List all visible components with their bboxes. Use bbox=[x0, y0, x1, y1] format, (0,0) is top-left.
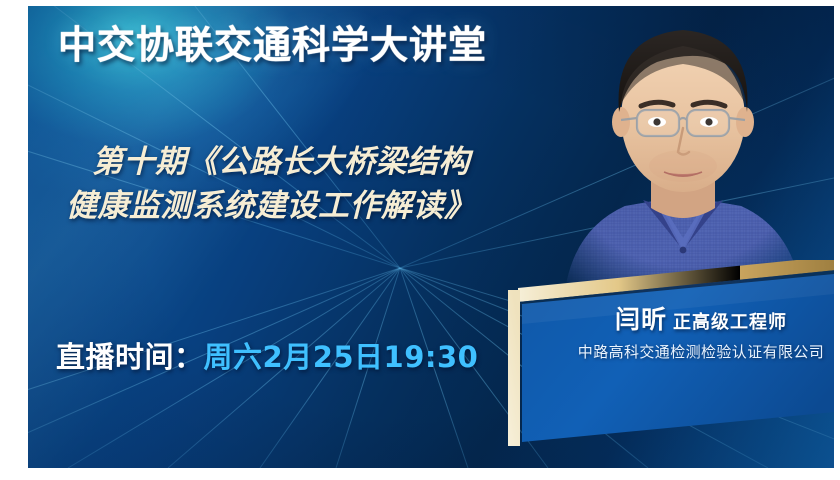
background-sheen bbox=[28, 6, 834, 468]
speaker-text-block: 闫昕正高级工程师 中路高科交通检测检验认证有限公司 bbox=[536, 306, 834, 362]
speaker-role: 正高级工程师 bbox=[673, 312, 787, 333]
broadcast-time-value: 周六2月25日19:30 bbox=[204, 334, 479, 376]
speaker-photo bbox=[533, 6, 833, 310]
poster-subtitle: 第十期《公路长大桥梁结构 健康监测系统建设工作解读》 bbox=[54, 140, 574, 228]
subtitle-line-2: 健康监测系统建设工作解读》 bbox=[54, 184, 574, 228]
page-title: 中交协联交通科学大讲堂 bbox=[58, 26, 487, 66]
poster-root: 中交协联交通科学大讲堂 第十期《公路长大桥梁结构 健康监测系统建设工作解读》 直… bbox=[0, 0, 840, 480]
subtitle-line-1: 第十期《公路长大桥梁结构 bbox=[54, 140, 574, 184]
speaker-name: 闫昕 bbox=[615, 305, 667, 334]
broadcast-time: 直播时间： 周六2月25日19:30 bbox=[56, 334, 478, 376]
speaker-panel-shape bbox=[476, 260, 834, 450]
background-vignette bbox=[28, 6, 834, 468]
poster-canvas: 中交协联交通科学大讲堂 第十期《公路长大桥梁结构 健康监测系统建设工作解读》 直… bbox=[28, 6, 834, 468]
speaker-name-row: 闫昕正高级工程师 bbox=[536, 306, 834, 334]
perspective-grid bbox=[28, 6, 834, 468]
broadcast-time-label: 直播时间： bbox=[56, 334, 204, 376]
speaker-info-panel: 闫昕正高级工程师 中路高科交通检测检验认证有限公司 bbox=[476, 260, 834, 450]
speaker-organization: 中路高科交通检测检验认证有限公司 bbox=[536, 341, 834, 362]
